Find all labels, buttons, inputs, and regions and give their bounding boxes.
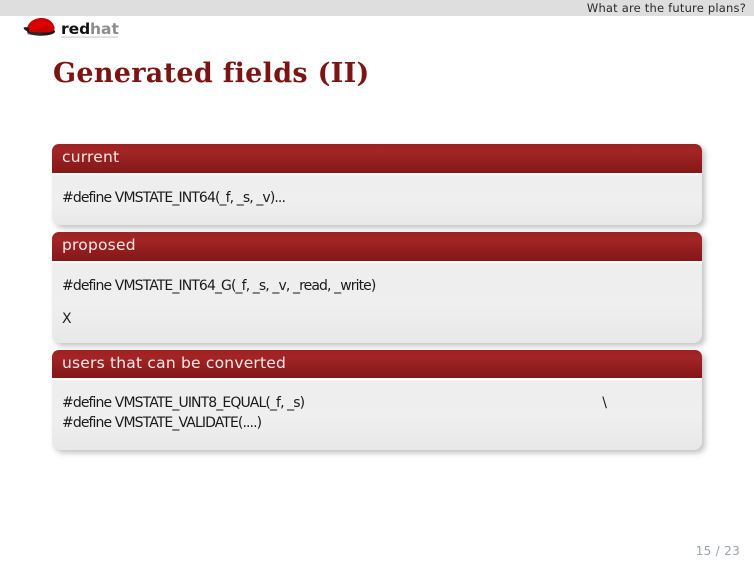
presentation-slide: What are the future plans? red hat Gener… bbox=[0, 0, 754, 566]
block-title: current bbox=[52, 144, 702, 175]
block-title: proposed bbox=[52, 232, 702, 263]
cross-mark: X bbox=[62, 311, 690, 327]
block-body: #define VMSTATE_INT64(_f, _s, _v)... bbox=[52, 175, 702, 225]
code-line: #define VMSTATE_INT64(_f, _s, _v)... bbox=[62, 189, 690, 209]
shadowman-icon bbox=[24, 18, 56, 36]
logo-word-red: red bbox=[61, 20, 90, 38]
section-title: What are the future plans? bbox=[587, 1, 746, 15]
line-continuation-backslash: \ bbox=[602, 395, 690, 411]
redhat-shadowman-logo: red hat bbox=[20, 14, 145, 40]
block-proposed: proposed #define VMSTATE_INT64_G(_f, _s,… bbox=[52, 232, 702, 343]
code-line: #define VMSTATE_VALIDATE(....) bbox=[62, 414, 690, 434]
block-title: users that can be converted bbox=[52, 350, 702, 381]
block-body: #define VMSTATE_INT64_G(_f, _s, _v, _rea… bbox=[52, 263, 702, 343]
block-body: #define VMSTATE_UINT8_EQUAL(_f, _s) \ #d… bbox=[52, 380, 702, 450]
block-users-that-can-be-converted: users that can be converted #define VMST… bbox=[52, 350, 702, 451]
code-line: #define VMSTATE_UINT8_EQUAL(_f, _s) bbox=[62, 394, 304, 414]
page-title: Generated fields (II) bbox=[53, 58, 370, 89]
logo-word-hat: hat bbox=[90, 20, 119, 38]
code-row: #define VMSTATE_UINT8_EQUAL(_f, _s) \ bbox=[62, 394, 690, 414]
block-current: current #define VMSTATE_INT64(_f, _s, _v… bbox=[52, 144, 702, 225]
block-list: current #define VMSTATE_INT64(_f, _s, _v… bbox=[52, 144, 702, 457]
code-line: #define VMSTATE_INT64_G(_f, _s, _v, _rea… bbox=[62, 277, 690, 297]
page-number: 15 / 23 bbox=[696, 544, 740, 558]
